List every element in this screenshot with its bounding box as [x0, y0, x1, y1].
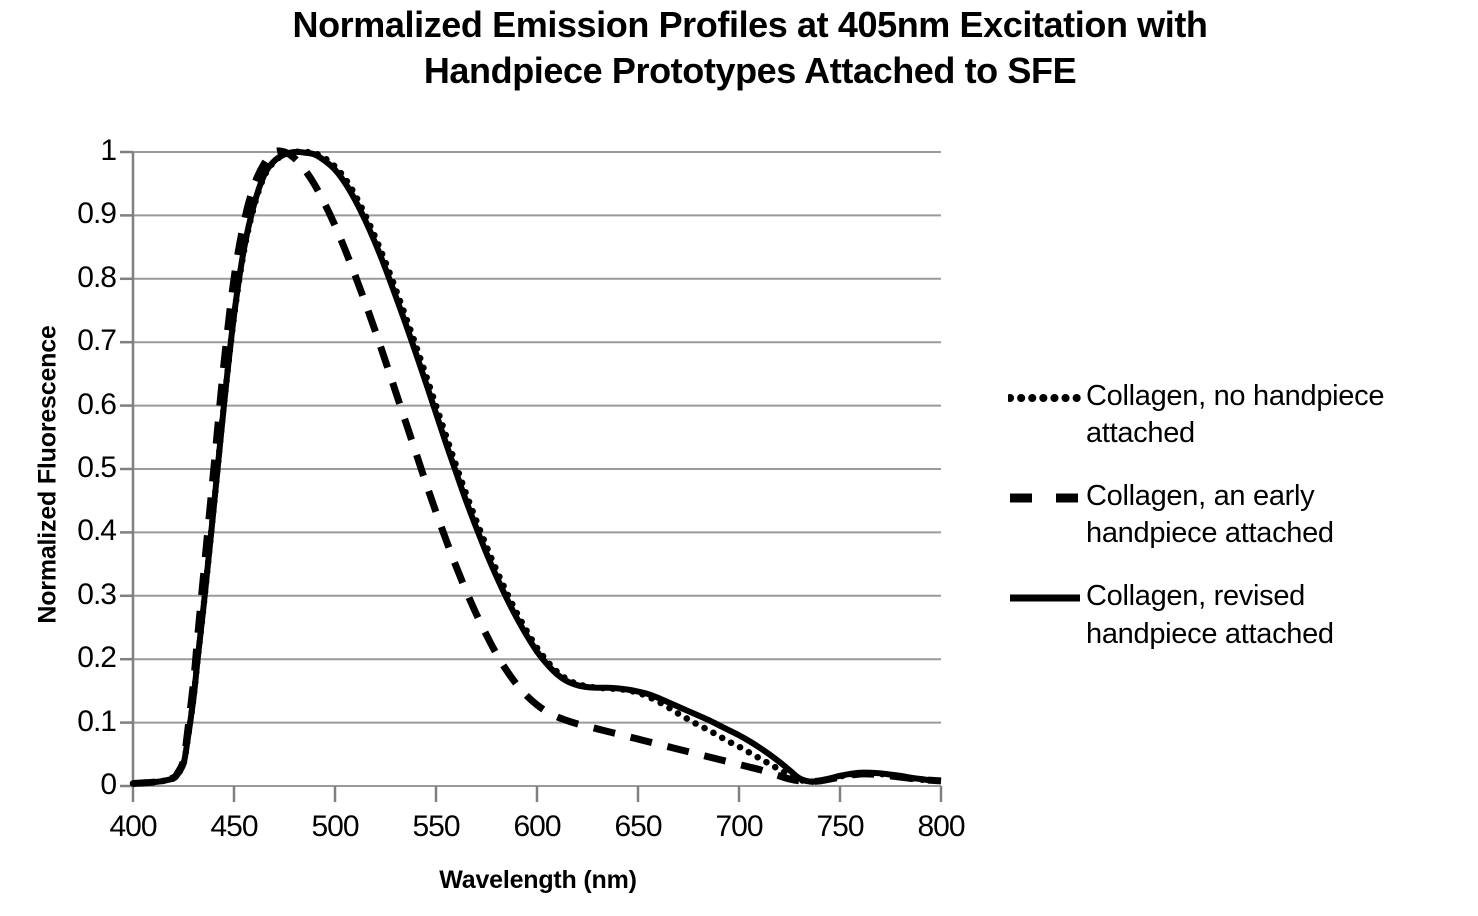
legend-key-dashed-icon	[1008, 480, 1086, 514]
legend-label-dotted: Collagen, no handpiece attached	[1086, 378, 1384, 452]
legend-label-solid: Collagen, revised handpiece attached	[1086, 578, 1334, 652]
chart-legend: Collagen, no handpiece attachedCollagen,…	[1008, 378, 1478, 679]
series-line-dotted	[133, 152, 941, 784]
emission-profile-chart-figure: Normalized Emission Profiles at 405nm Ex…	[0, 0, 1478, 916]
data-curves	[133, 151, 941, 784]
legend-item-dashed[interactable]: Collagen, an early handpiece attached	[1008, 478, 1478, 552]
legend-item-solid[interactable]: Collagen, revised handpiece attached	[1008, 578, 1478, 652]
series-line-dashed	[133, 151, 941, 784]
series-line-solid	[133, 152, 941, 784]
legend-key-dotted-icon	[1008, 380, 1086, 414]
legend-item-dotted[interactable]: Collagen, no handpiece attached	[1008, 378, 1478, 452]
legend-key-solid-icon	[1008, 580, 1086, 614]
legend-label-dashed: Collagen, an early handpiece attached	[1086, 478, 1334, 552]
gridlines	[133, 152, 941, 786]
